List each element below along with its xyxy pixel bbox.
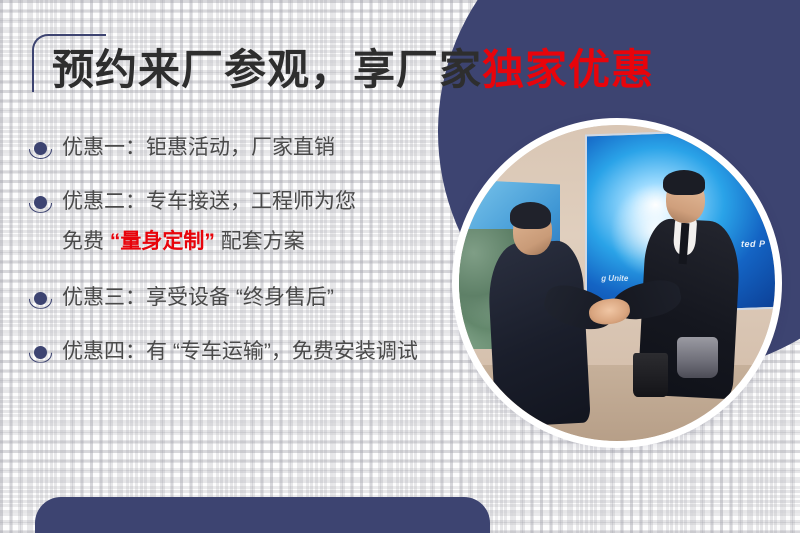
- photo-person-right-hair: [663, 170, 706, 195]
- benefit-line-1: 优惠三：享受设备 “终身售后”: [62, 286, 334, 309]
- bullet-dot-icon: [28, 341, 54, 367]
- list-item: 优惠一：钜惠活动，厂家直销: [28, 132, 498, 164]
- benefit-line-1: 优惠一：钜惠活动，厂家直销: [62, 136, 335, 159]
- benefit-text: 优惠一：钜惠活动，厂家直销: [62, 132, 335, 164]
- bullet-dot-icon: [28, 137, 54, 163]
- page-title: 预约来厂参观，享厂家独家优惠: [52, 48, 654, 92]
- photo-content: ted P g Unite: [459, 125, 775, 441]
- photo-bag-dark: [633, 353, 668, 397]
- bullet-dot-icon: [28, 191, 54, 217]
- benefit-text: 优惠三：享受设备 “终身售后”: [62, 282, 334, 314]
- list-item: 优惠三：享受设备 “终身售后”: [28, 282, 498, 314]
- promotional-banner: 预约来厂参观，享厂家独家优惠 优惠一：钜惠活动，厂家直销 优惠二：专车接送，工程…: [0, 0, 800, 533]
- photo-bag-light: [677, 337, 718, 378]
- photo-person-left-body: [486, 240, 590, 428]
- photo-watermark-center: g Unite: [601, 274, 628, 283]
- benefit-line-1: 优惠四：有 “专车运输”，免费安装调试: [62, 340, 418, 363]
- list-item: 优惠四：有 “专车运输”，免费安装调试: [28, 336, 498, 368]
- handshake-photo: ted P g Unite: [452, 118, 782, 448]
- headline-accent-text: 独家优惠: [482, 46, 654, 93]
- benefit-line-2-prefix: 免费: [62, 230, 110, 253]
- benefit-line-2-suffix: 配套方案: [215, 230, 305, 253]
- benefit-highlight: “量身定制”: [110, 230, 215, 253]
- navy-bar-decoration: [35, 497, 490, 533]
- benefit-text: 优惠二：专车接送，工程师为您 免费 “量身定制” 配套方案: [62, 186, 356, 258]
- benefit-line-1: 优惠二：专车接送，工程师为您: [62, 190, 356, 213]
- headline-normal-text: 预约来厂参观，享厂家: [52, 46, 482, 93]
- photo-person-left-hair: [510, 202, 551, 229]
- photo-watermark-right: ted P: [741, 239, 766, 249]
- list-item: 优惠二：专车接送，工程师为您 免费 “量身定制” 配套方案: [28, 186, 498, 258]
- benefit-text: 优惠四：有 “专车运输”，免费安装调试: [62, 336, 418, 368]
- benefit-line-2: 免费 “量身定制” 配套方案: [62, 226, 356, 258]
- bullet-dot-icon: [28, 287, 54, 313]
- benefits-list: 优惠一：钜惠活动，厂家直销 优惠二：专车接送，工程师为您 免费 “量身定制” 配…: [28, 132, 498, 390]
